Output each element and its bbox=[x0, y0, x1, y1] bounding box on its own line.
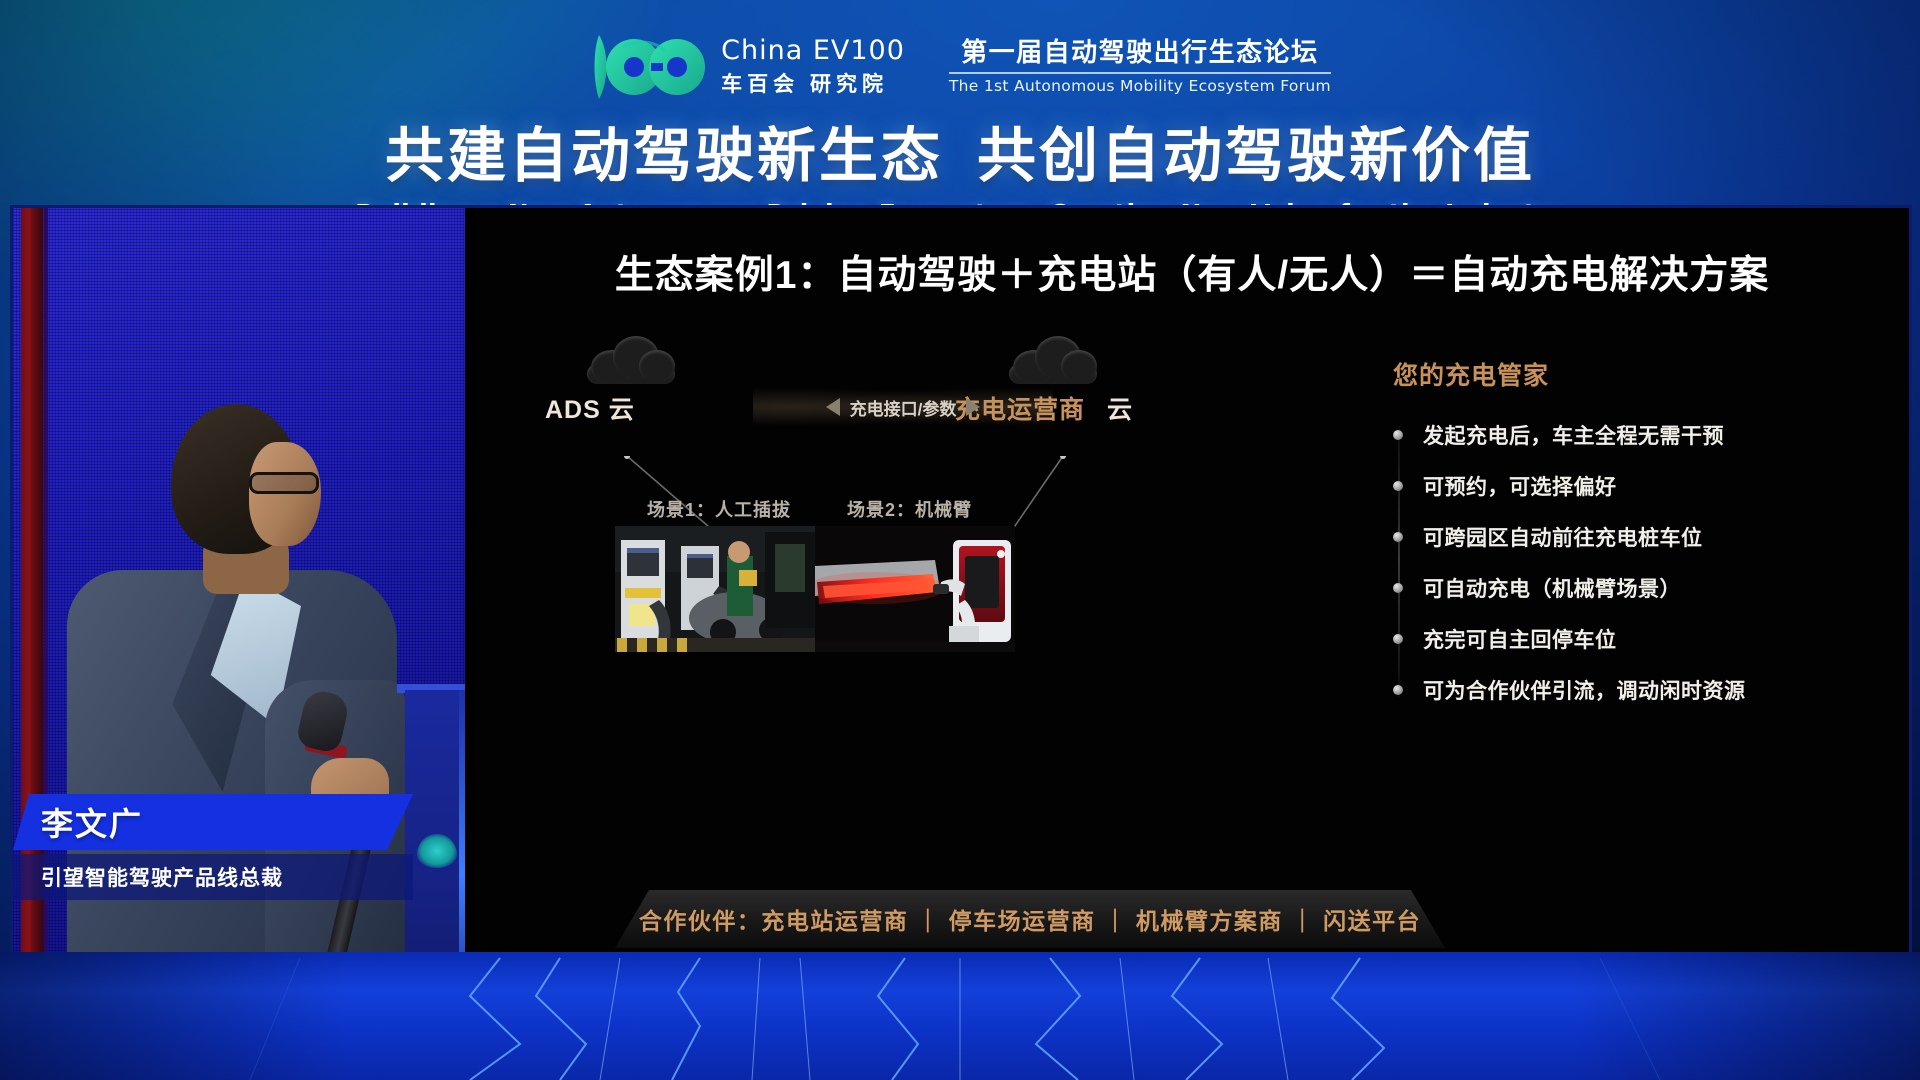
bullets-spine bbox=[1398, 426, 1400, 697]
banner-title-cn-part1: 共建自动驾驶新生态 bbox=[385, 123, 943, 189]
banner-title-cn-part2: 共创自动驾驶新价值 bbox=[977, 123, 1535, 189]
bullets-list: 发起充电后，车主全程无需干预 可预约，可选择偏好 可跨园区自动前往充电桩车位 可… bbox=[1393, 418, 1893, 707]
list-item: 可为合作伙伴引流，调动闲时资源 bbox=[1423, 673, 1893, 707]
list-item: 可自动充电（机械臂场景） bbox=[1423, 571, 1893, 605]
presentation-slide: 生态案例1：自动驾驶＋充电站（有人/无人）＝自动充电解决方案 ADS 云 充电运… bbox=[475, 208, 1909, 1020]
broadcast-frame: China EV100 车百会 研究院 第一届自动驾驶出行生态论坛 The 1s… bbox=[0, 0, 1920, 1080]
podium-logo-icon bbox=[417, 834, 457, 868]
robotic-arm-charging-photo bbox=[815, 526, 1015, 652]
list-item-label: 发起充电后，车主全程无需干预 bbox=[1423, 420, 1724, 450]
speaker-title-bar: 引望智能驾驶产品线总裁 bbox=[13, 854, 413, 900]
manual-plug-charging-photo bbox=[615, 526, 815, 652]
china-ev100-100-logo-icon bbox=[589, 29, 707, 103]
floor-light-pattern bbox=[0, 952, 1920, 1080]
cloud-icon-ads bbox=[583, 334, 679, 384]
speaker-camera-panel: 李文广 引望智能驾驶产品线总裁 bbox=[13, 208, 465, 1020]
list-item-label: 充完可自主回停车位 bbox=[1423, 624, 1617, 654]
scene-label-2: 场景2：机械臂 bbox=[847, 496, 972, 522]
org-name-en: China EV100 bbox=[721, 35, 905, 66]
partners-bar: 合作伙伴：充电站运营商 ｜ 停车场运营商 ｜ 机械臂方案商 ｜ 闪送平台 bbox=[615, 890, 1445, 948]
arrow-left-icon bbox=[826, 398, 840, 416]
speaker-nameplate: 李文广 引望智能驾驶产品线总裁 bbox=[13, 794, 413, 900]
diagram-link-label: 充电接口/参数 bbox=[850, 395, 957, 420]
stage-floor bbox=[0, 952, 1920, 1080]
forum-title-cn: 第一届自动驾驶出行生态论坛 bbox=[961, 37, 1319, 68]
speaker-name-bar: 李文广 bbox=[13, 794, 413, 850]
arrow-right-icon bbox=[966, 398, 980, 416]
bullet-dot-icon bbox=[1393, 532, 1403, 542]
org-name-cn: 车百会 研究院 bbox=[721, 68, 888, 98]
cloud-icon-operator bbox=[1005, 334, 1101, 384]
speaker-figure bbox=[53, 380, 413, 1020]
diagram-node-ads-cloud: ADS 云 bbox=[545, 390, 635, 426]
speaker-name: 李文广 bbox=[41, 799, 143, 845]
cloud-link-diagram: ADS 云 充电运营商 云 充电接口/参数 bbox=[535, 334, 1295, 474]
list-item: 发起充电后，车主全程无需干预 bbox=[1423, 418, 1893, 452]
list-item: 充完可自主回停车位 bbox=[1423, 622, 1893, 656]
org-logo-text: China EV100 车百会 研究院 bbox=[721, 35, 905, 98]
bullet-dot-icon bbox=[1393, 685, 1403, 695]
diagram-link: 充电接口/参数 bbox=[753, 392, 1053, 422]
list-item-label: 可为合作伙伴引流，调动闲时资源 bbox=[1423, 675, 1746, 705]
glasses-icon bbox=[249, 472, 319, 494]
bullets-panel-title: 您的充电管家 bbox=[1393, 356, 1893, 392]
partners-bar-label: 合作伙伴：充电站运营商 ｜ 停车场运营商 ｜ 机械臂方案商 ｜ 闪送平台 bbox=[639, 902, 1421, 936]
led-wall: 李文广 引望智能驾驶产品线总裁 生态案例1：自动驾驶＋充电站（有人/无人）＝自动… bbox=[10, 205, 1912, 1023]
scene-label-1: 场景1：人工插拔 bbox=[647, 496, 791, 522]
speaker-title: 引望智能驾驶产品线总裁 bbox=[41, 862, 283, 892]
list-item-label: 可自动充电（机械臂场景） bbox=[1423, 573, 1681, 603]
slide-title: 生态案例1：自动驾驶＋充电站（有人/无人）＝自动充电解决方案 bbox=[475, 244, 1909, 300]
list-item-label: 可跨园区自动前往充电桩车位 bbox=[1423, 522, 1703, 552]
bullet-dot-icon bbox=[1393, 634, 1403, 644]
bullet-dot-icon bbox=[1393, 430, 1403, 440]
operator-label-tail: 云 bbox=[1107, 396, 1133, 424]
bullet-dot-icon bbox=[1393, 583, 1403, 593]
list-item: 可预约，可选择偏好 bbox=[1423, 469, 1893, 503]
bullet-dot-icon bbox=[1393, 481, 1403, 491]
forum-title-en: The 1st Autonomous Mobility Ecosystem Fo… bbox=[949, 77, 1331, 95]
bullets-panel: 您的充电管家 发起充电后，车主全程无需干预 可预约，可选择偏好 可跨园区自动前往… bbox=[1393, 356, 1893, 707]
forum-divider bbox=[949, 72, 1331, 74]
org-logo-block: China EV100 车百会 研究院 bbox=[589, 29, 905, 103]
banner-title-cn: 共建自动驾驶新生态共创自动驾驶新价值 bbox=[385, 108, 1535, 193]
forum-title-block: 第一届自动驾驶出行生态论坛 The 1st Autonomous Mobilit… bbox=[931, 37, 1331, 95]
event-header: China EV100 车百会 研究院 第一届自动驾驶出行生态论坛 The 1s… bbox=[0, 26, 1920, 106]
list-item-label: 可预约，可选择偏好 bbox=[1423, 471, 1617, 501]
list-item: 可跨园区自动前往充电桩车位 bbox=[1423, 520, 1893, 554]
